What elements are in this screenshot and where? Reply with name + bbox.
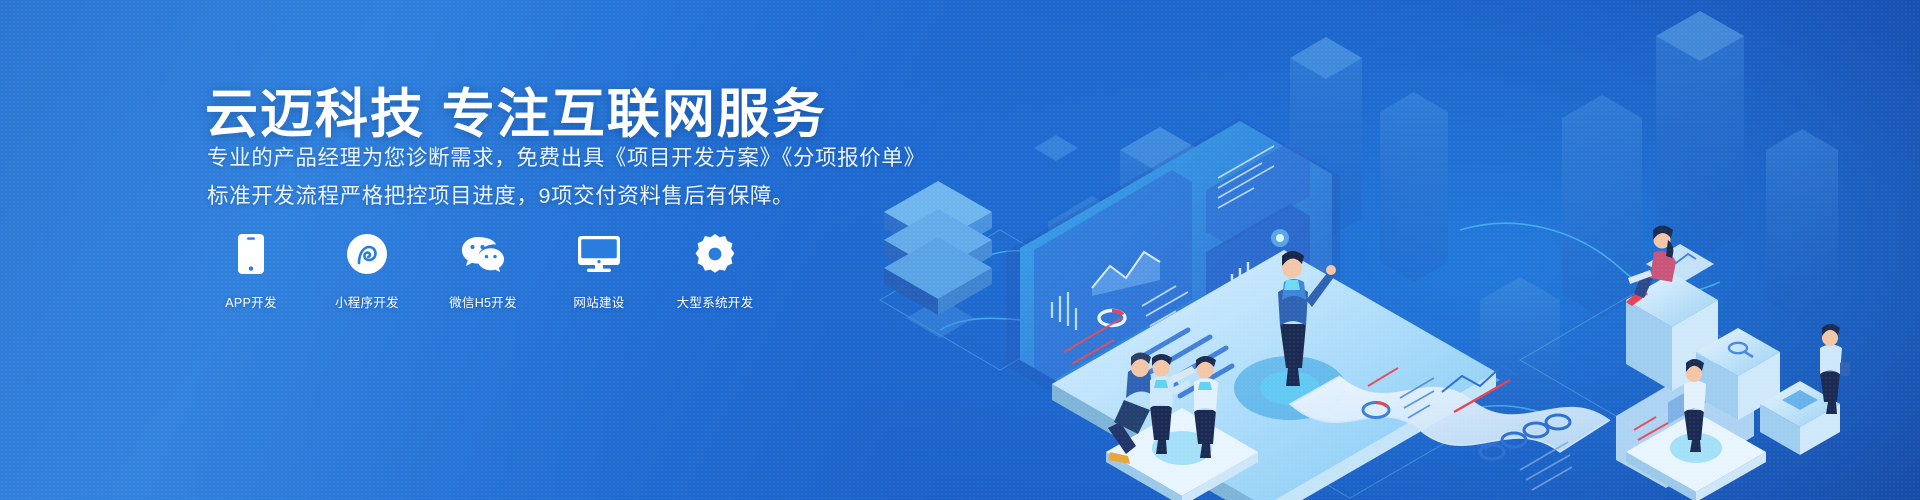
service-icon-list: APP开发 小程序开发: [215, 232, 751, 311]
service-label-app: APP开发: [225, 292, 277, 311]
mini-program-icon: [347, 232, 387, 276]
service-label-large-system: 大型系统开发: [677, 292, 754, 311]
hero-banner: 云迈科技 专注互联网服务 专业的产品经理为您诊断需求，免费出具《项目开发方案》《…: [0, 0, 1920, 500]
service-label-website: 网站建设: [573, 292, 624, 311]
service-item-wechat-h5[interactable]: 微信H5开发: [447, 232, 519, 311]
service-label-wechat-h5: 微信H5开发: [449, 292, 517, 311]
banner-subtitle-line-2: 标准开发流程严格把控项目进度，9项交付资料售后有保障。: [207, 186, 794, 208]
service-label-mini-program: 小程序开发: [335, 292, 399, 311]
banner-headline: 云迈科技 专注互联网服务: [205, 72, 827, 148]
mobile-phone-icon: [238, 232, 264, 276]
service-item-large-system[interactable]: 大型系统开发: [679, 232, 751, 311]
monitor-icon: [578, 232, 620, 276]
service-item-mini-program[interactable]: 小程序开发: [331, 232, 403, 311]
wechat-icon: [461, 232, 505, 276]
service-item-website[interactable]: 网站建设: [563, 232, 635, 311]
banner-subtitle-line-1: 专业的产品经理为您诊断需求，免费出具《项目开发方案》《分项报价单》: [207, 148, 926, 170]
person-walking-right: [1820, 324, 1850, 414]
service-item-app[interactable]: APP开发: [215, 232, 287, 311]
gear-icon: [695, 232, 735, 276]
banner-content: 云迈科技 专注互联网服务 专业的产品经理为您诊断需求，免费出具《项目开发方案》《…: [205, 0, 965, 500]
illustration-isometric-digital-team-scene: [820, 0, 1920, 500]
